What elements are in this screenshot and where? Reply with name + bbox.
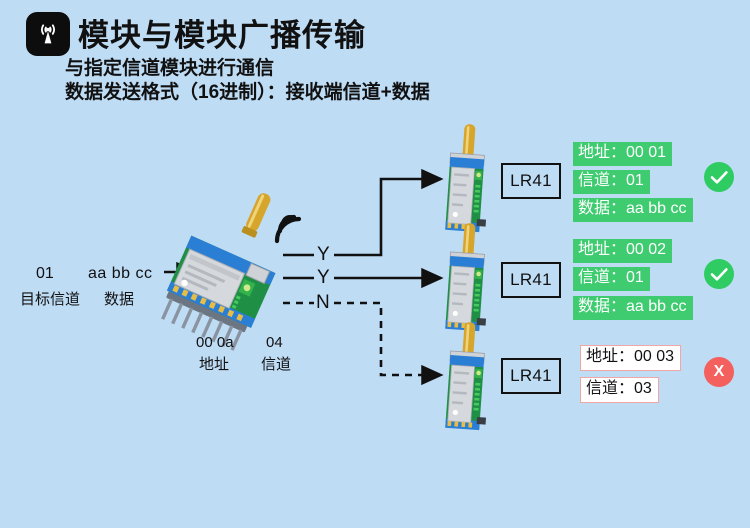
page-title: 模块与模块广播传输 (78, 10, 366, 55)
input-data-value: aa bb cc (88, 265, 152, 283)
receiver-1-data-tag: 数据：aa bb cc (573, 198, 693, 222)
diagram-canvas: 模块与模块广播传输 与指定信道模块进行通信 数据发送格式（16进制）：接收端信道… (0, 0, 750, 528)
receiver-1-address-tag: 地址：00 01 (573, 142, 672, 166)
receiver-1-channel-tag: 信道：01 (573, 170, 650, 194)
receiver-box-3: LR41 (501, 358, 561, 394)
input-channel-value: 01 (36, 265, 54, 283)
input-data-label: 数据 (104, 288, 134, 309)
receiver-1-status-badge (704, 162, 734, 192)
receiver-3-status-badge: X (704, 357, 734, 387)
receiver-box-1: LR41 (501, 163, 561, 199)
transmitter-channel-value: 04 (266, 334, 283, 351)
receiver-box-2: LR41 (501, 262, 561, 298)
check-icon (704, 162, 734, 192)
cross-icon: X (704, 357, 734, 387)
receiver-3-address-tag: 地址：00 03 (580, 345, 681, 371)
wifi-signal-icon (277, 217, 299, 241)
transmitter-address-label: 地址 (199, 353, 229, 374)
receiver-2-data-tag: 数据：aa bb cc (573, 296, 693, 320)
branch-label-1: Y (317, 244, 330, 266)
check-icon (704, 259, 734, 289)
transmitter-address-value: 00 0a (196, 334, 234, 351)
subtitle-line-2: 数据发送格式（16进制）：接收端信道+数据 (65, 77, 430, 104)
subtitle-line-1: 与指定信道模块进行通信 (65, 53, 274, 80)
receiver-3-channel-tag: 信道：03 (580, 377, 659, 403)
branch-label-3: N (316, 292, 330, 314)
receiver-2-address-tag: 地址：00 02 (573, 239, 672, 263)
receiver-2-channel-tag: 信道：01 (573, 267, 650, 291)
receiver-2-status-badge (704, 259, 734, 289)
broadcast-tower-icon (26, 12, 70, 56)
transmitter-channel-label: 信道 (261, 353, 291, 374)
branch-label-2: Y (317, 267, 330, 289)
input-channel-label: 目标信道 (20, 288, 80, 309)
